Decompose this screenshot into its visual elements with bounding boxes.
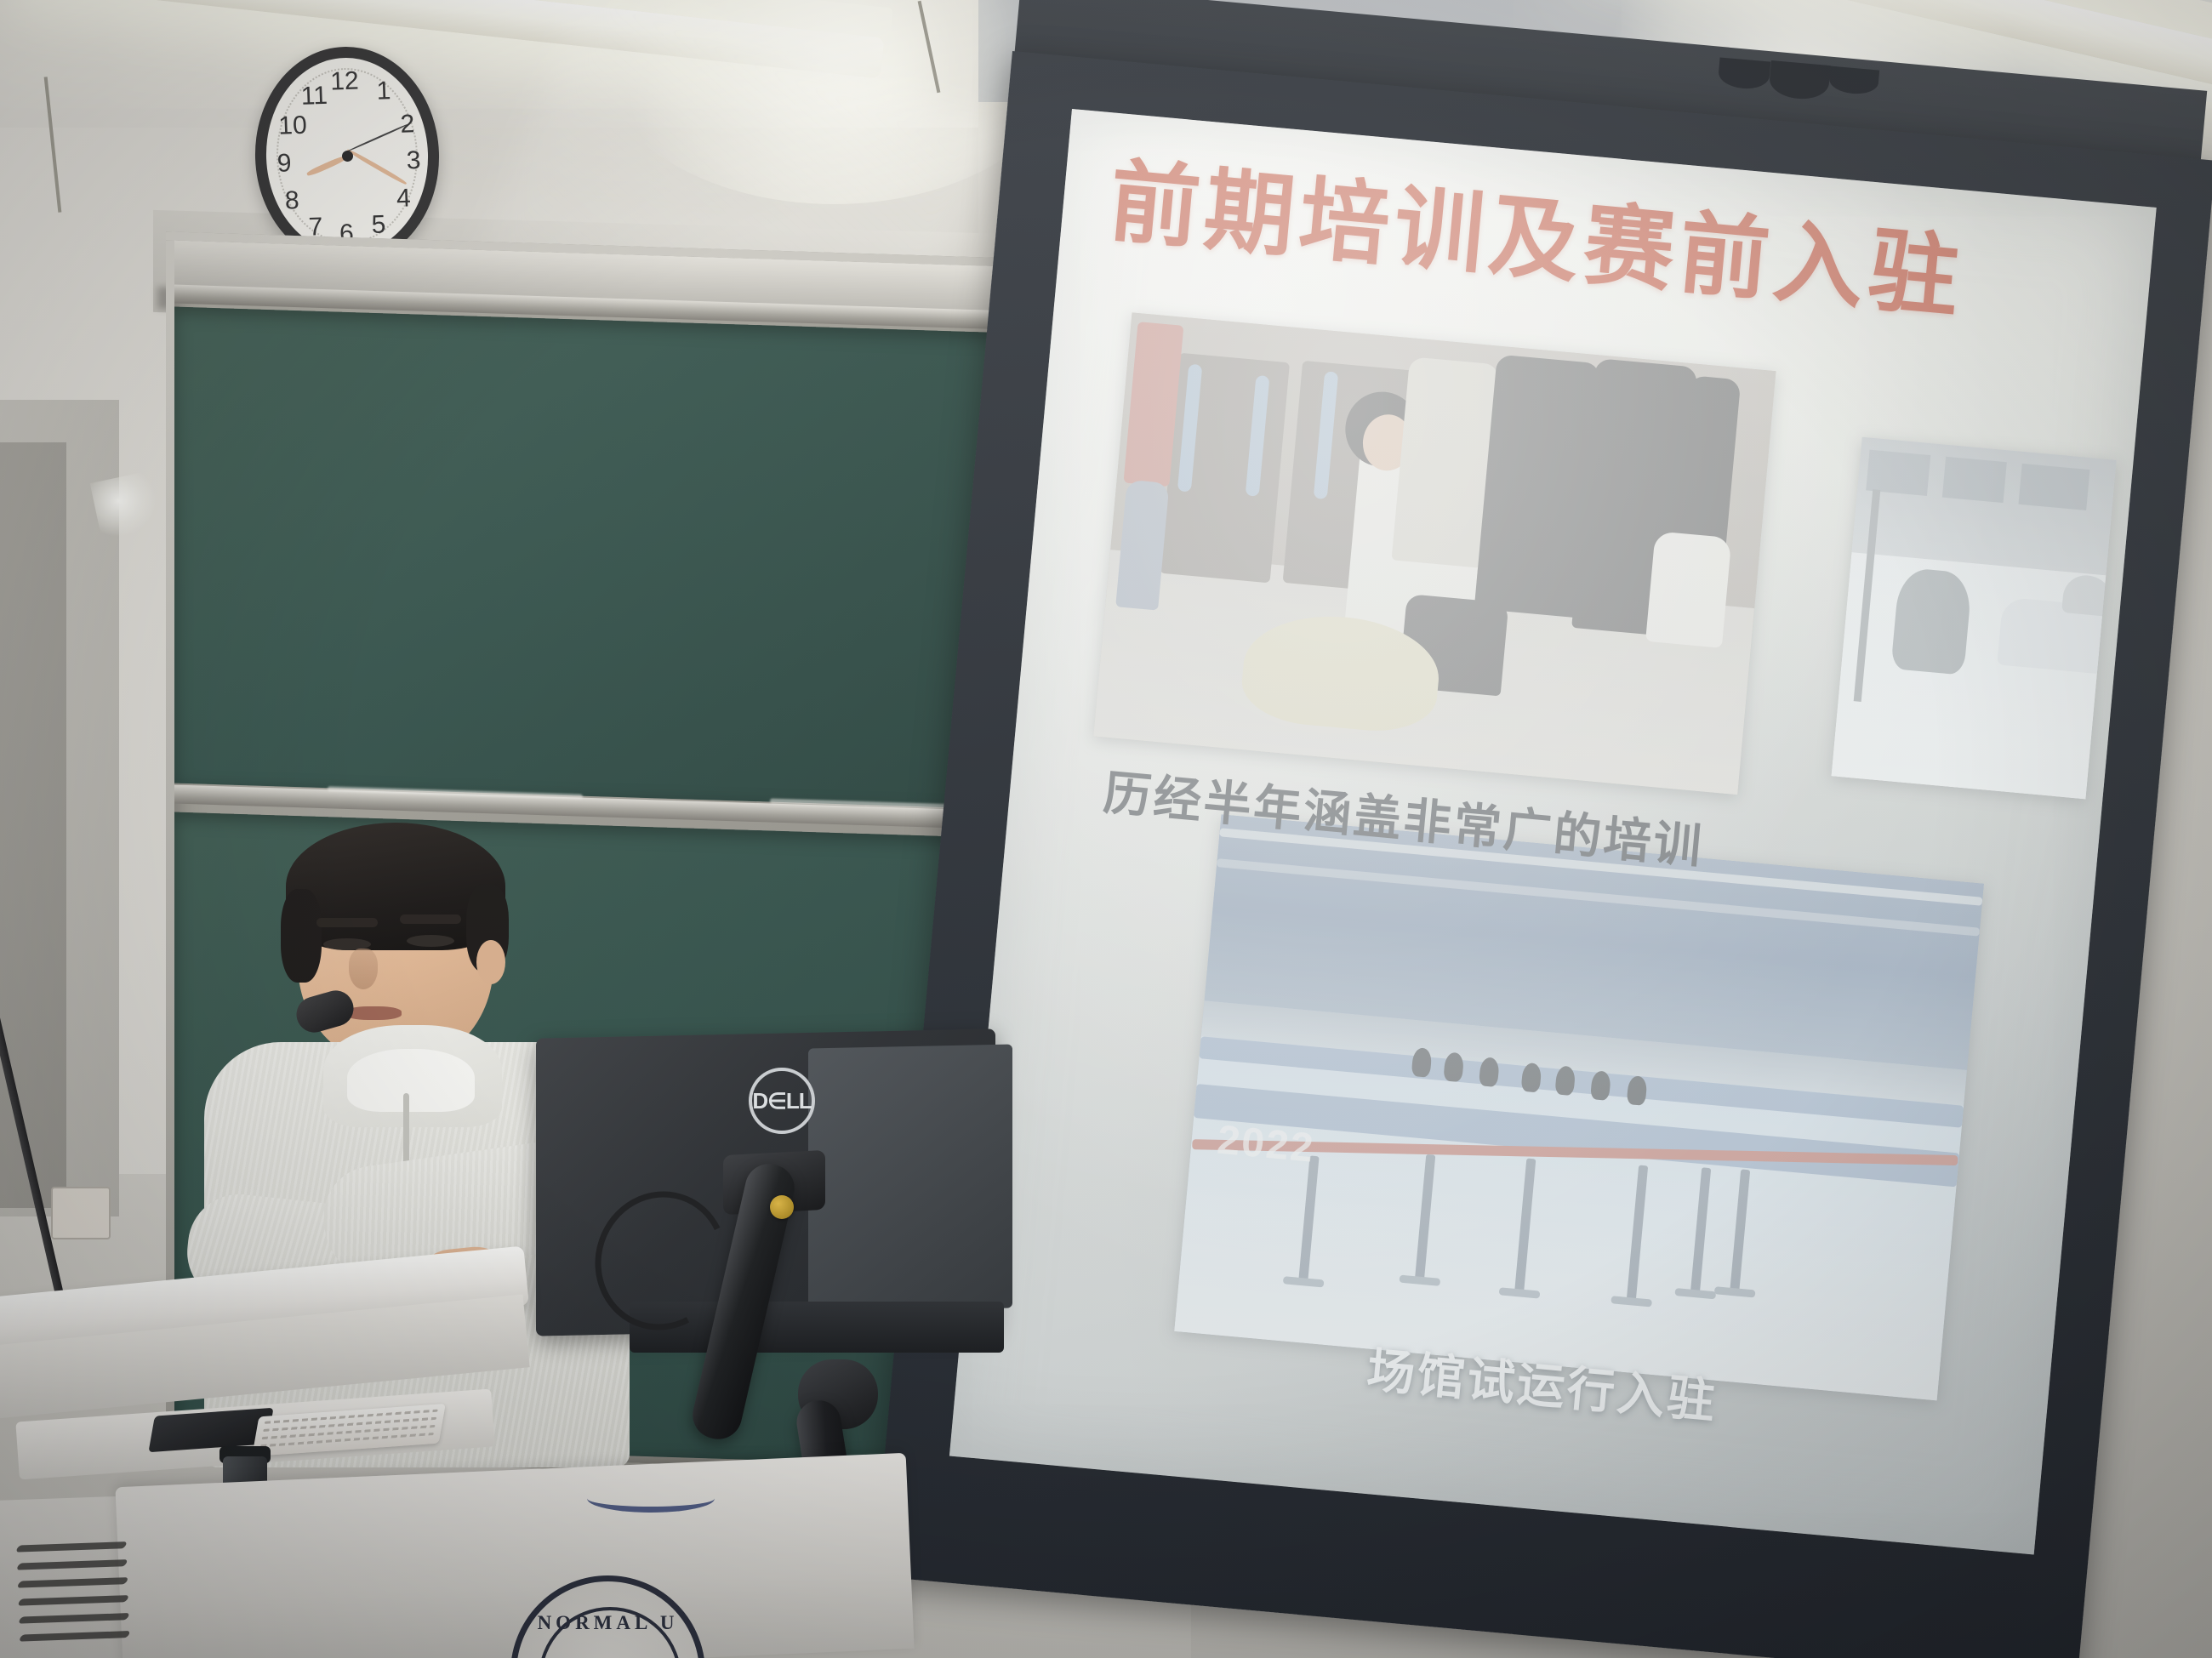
- clock-center-pin: [341, 150, 352, 161]
- projection-screen-assembly: 前期培训及赛前入驻: [1021, 0, 2212, 1565]
- monitor-arm-tension-knob[interactable]: [770, 1195, 794, 1219]
- classroom-presentation-photo: 12 1 2 3 4 5 6 7 8 9 10 11: [0, 0, 2212, 1658]
- lectern-front-panel: [115, 1453, 914, 1658]
- photo-window-3: [2018, 464, 2089, 510]
- clock-number-11: 11: [300, 81, 328, 111]
- clock-number-4: 4: [396, 184, 411, 214]
- clock-number-12: 12: [330, 66, 360, 96]
- dell-logo: D∈LL: [749, 1068, 815, 1134]
- presentation-slide: 前期培训及赛前入驻: [949, 109, 2157, 1554]
- presenter-mouth: [345, 1006, 402, 1020]
- photo-child-white-coat: [1645, 531, 1731, 648]
- monitor-side-panel: [808, 1044, 1012, 1312]
- podium-cable: [587, 1484, 715, 1513]
- presenter-ear: [476, 940, 505, 984]
- presenter-eye-right: [407, 935, 454, 947]
- presenter-inner-shirt: [347, 1049, 475, 1112]
- slide-photo-snowy-street: [1832, 437, 2117, 800]
- presenter-brow-right: [400, 914, 461, 924]
- presenter-brow-left: [316, 918, 378, 927]
- clock-number-8: 8: [284, 186, 299, 216]
- presenter-hair-left: [281, 889, 322, 983]
- wall-outlet: [51, 1187, 111, 1239]
- clock-number-10: 10: [278, 111, 308, 141]
- slide-photo-speed-skating-oval: 2022: [1174, 814, 1984, 1400]
- lectern-ventilation-slots: [0, 1528, 215, 1658]
- clock-number-3: 3: [406, 146, 421, 176]
- slide-photo-cpr-training: [1093, 312, 1776, 795]
- clock-number-5: 5: [371, 210, 386, 240]
- presenter-nose: [349, 949, 378, 989]
- clock-number-1: 1: [376, 77, 391, 107]
- projection-screen-surface: 前期培训及赛前入驻: [949, 109, 2157, 1554]
- photo-window-2: [1942, 457, 2007, 503]
- clock-number-9: 9: [276, 149, 292, 179]
- photo-olympic-2022-text: 2022: [1215, 1116, 1316, 1171]
